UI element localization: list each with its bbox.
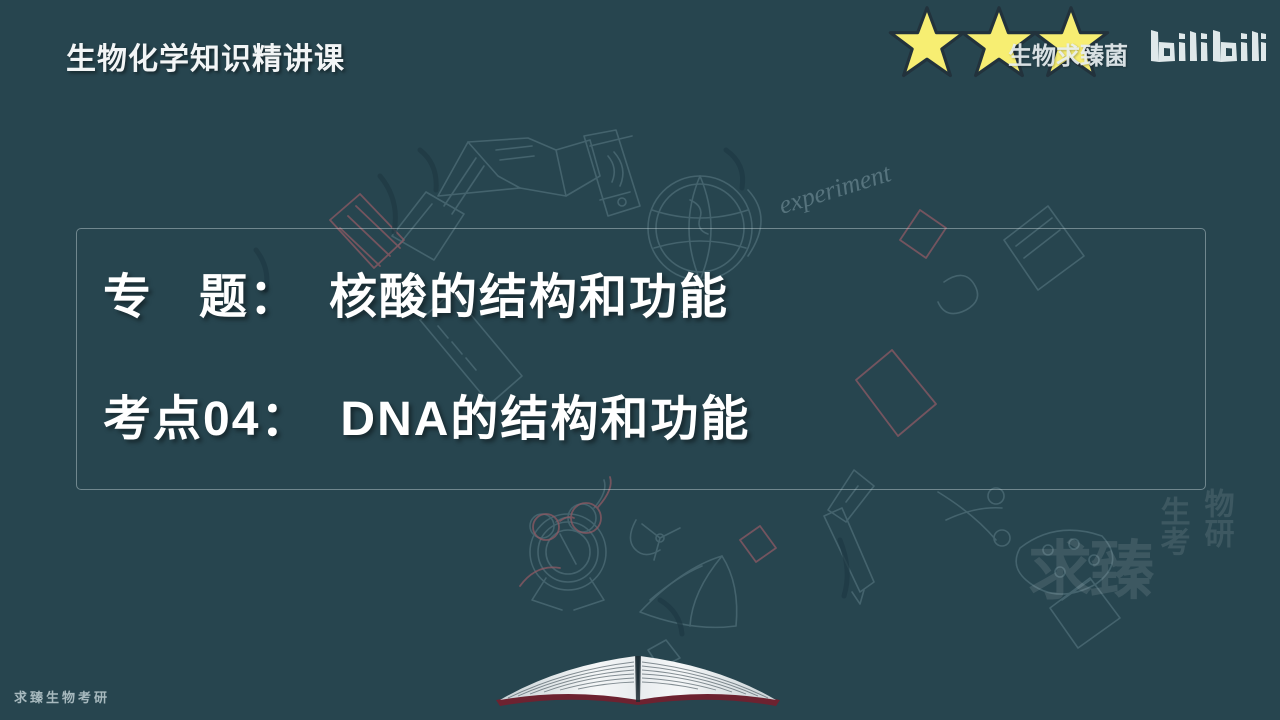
footer-watermark: 求臻生物考研 [14,687,110,706]
doodle-experiment-label: experiment [775,158,895,220]
corner-watermark-col-b: 物研 [1200,488,1232,548]
page-title: 生物化学知识精讲课 [66,34,345,78]
bilibili-logo-icon [1148,28,1266,68]
topic-label: 专 [103,271,153,324]
channel-name-watermark: 生物求臻菌 [1008,36,1128,71]
video-frame: experiment [0,0,1280,720]
corner-watermark-main: 求臻 [1028,520,1152,612]
topic-line: 专题：核酸的结构和功能 [103,257,729,327]
point-line: 考点04：DNA的结构和功能 [103,379,750,449]
main-content-panel: 专题：核酸的结构和功能 考点04：DNA的结构和功能 [76,228,1206,490]
point-label: 考点04： [103,393,310,446]
star-icon [888,4,966,80]
corner-watermark: 求臻 生考 物研 [1028,496,1248,606]
point-value: DNA的结构和功能 [340,393,750,446]
open-book-illustration [488,626,788,712]
topic-value: 核酸的结构和功能 [329,271,729,324]
corner-watermark-col-a: 生考 [1156,496,1188,556]
topic-label-2: 题： [199,271,299,324]
